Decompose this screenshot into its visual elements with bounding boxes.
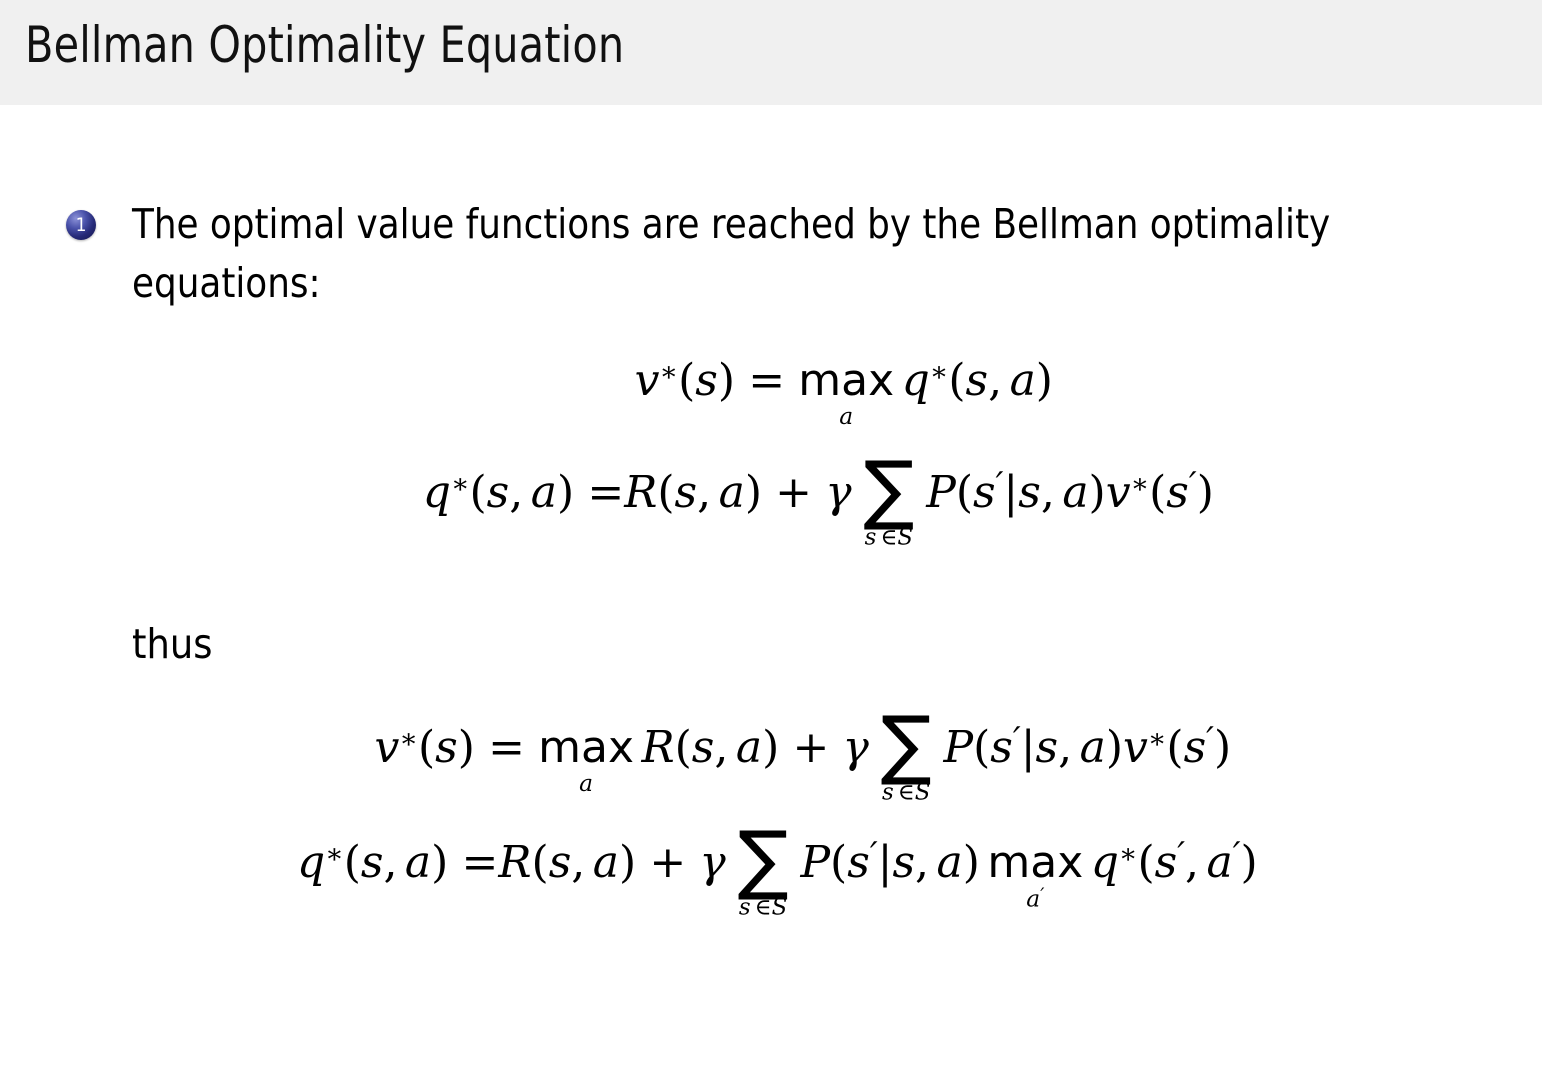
equation-rhs: R(s,a)+γ ∑ s′∈S P(s′|s,a)v∗(s′): [624, 450, 1214, 541]
equation-v-star-max-q: v∗(s) = max a q∗(s,a): [76, 355, 1542, 428]
list-item-label: The optimal value functions are reached …: [132, 195, 1471, 313]
max-operator: max a: [798, 359, 894, 428]
equation-q-star-bellman: q∗(s,a) = R(s,a)+γ ∑ s′∈S P(s′|s,a)v∗(s′…: [76, 450, 1542, 541]
equation-relation: =: [462, 837, 499, 888]
slide-header-bar: Bellman Optimality Equation: [0, 0, 1542, 105]
equation-lhs: v∗(s): [565, 355, 735, 406]
equation-rhs: max a R(s,a)+γ ∑ s′∈S P(s′|s,a)v∗(s′): [538, 705, 1231, 796]
equation-q-star-expanded: q∗(s,a) = R(s,a)+γ ∑ s′∈S P(s′|s,a) max …: [0, 820, 1542, 911]
summation-operator: ∑ s′∈S: [863, 458, 914, 549]
equation-relation: =: [488, 722, 525, 773]
equation-rhs: max a q∗(s,a): [798, 355, 1053, 428]
summation-operator: ∑ s′∈S: [738, 828, 789, 919]
connector-text: thus: [132, 622, 212, 666]
equation-group-second: v∗(s) = max a R(s,a)+γ ∑ s′∈S P(s′|s,a)v…: [0, 705, 1542, 912]
enumerate-marker-icon: 1: [66, 210, 96, 240]
slide-body: 1 The optimal value functions are reache…: [0, 105, 1542, 1080]
max-operator: max a′: [987, 841, 1083, 911]
equation-rhs: R(s,a)+γ ∑ s′∈S P(s′|s,a) max a′ q∗(s′,a…: [498, 820, 1257, 911]
equation-v-star-expanded: v∗(s) = max a R(s,a)+γ ∑ s′∈S P(s′|s,a)v…: [0, 705, 1542, 796]
equation-lhs: q∗(s,a): [404, 467, 574, 518]
page-title: Bellman Optimality Equation: [25, 16, 624, 74]
equation-group-first: v∗(s) = max a q∗(s,a) q∗(s,a) = R(s,a)+γ…: [0, 355, 1542, 542]
summation-operator: ∑ s′∈S: [881, 713, 932, 804]
equation-lhs: q∗(s,a): [278, 837, 448, 888]
equation-relation: =: [748, 355, 785, 406]
equation-relation: =: [587, 467, 624, 518]
max-operator: max a: [538, 726, 634, 795]
equation-lhs: v∗(s): [305, 722, 475, 773]
